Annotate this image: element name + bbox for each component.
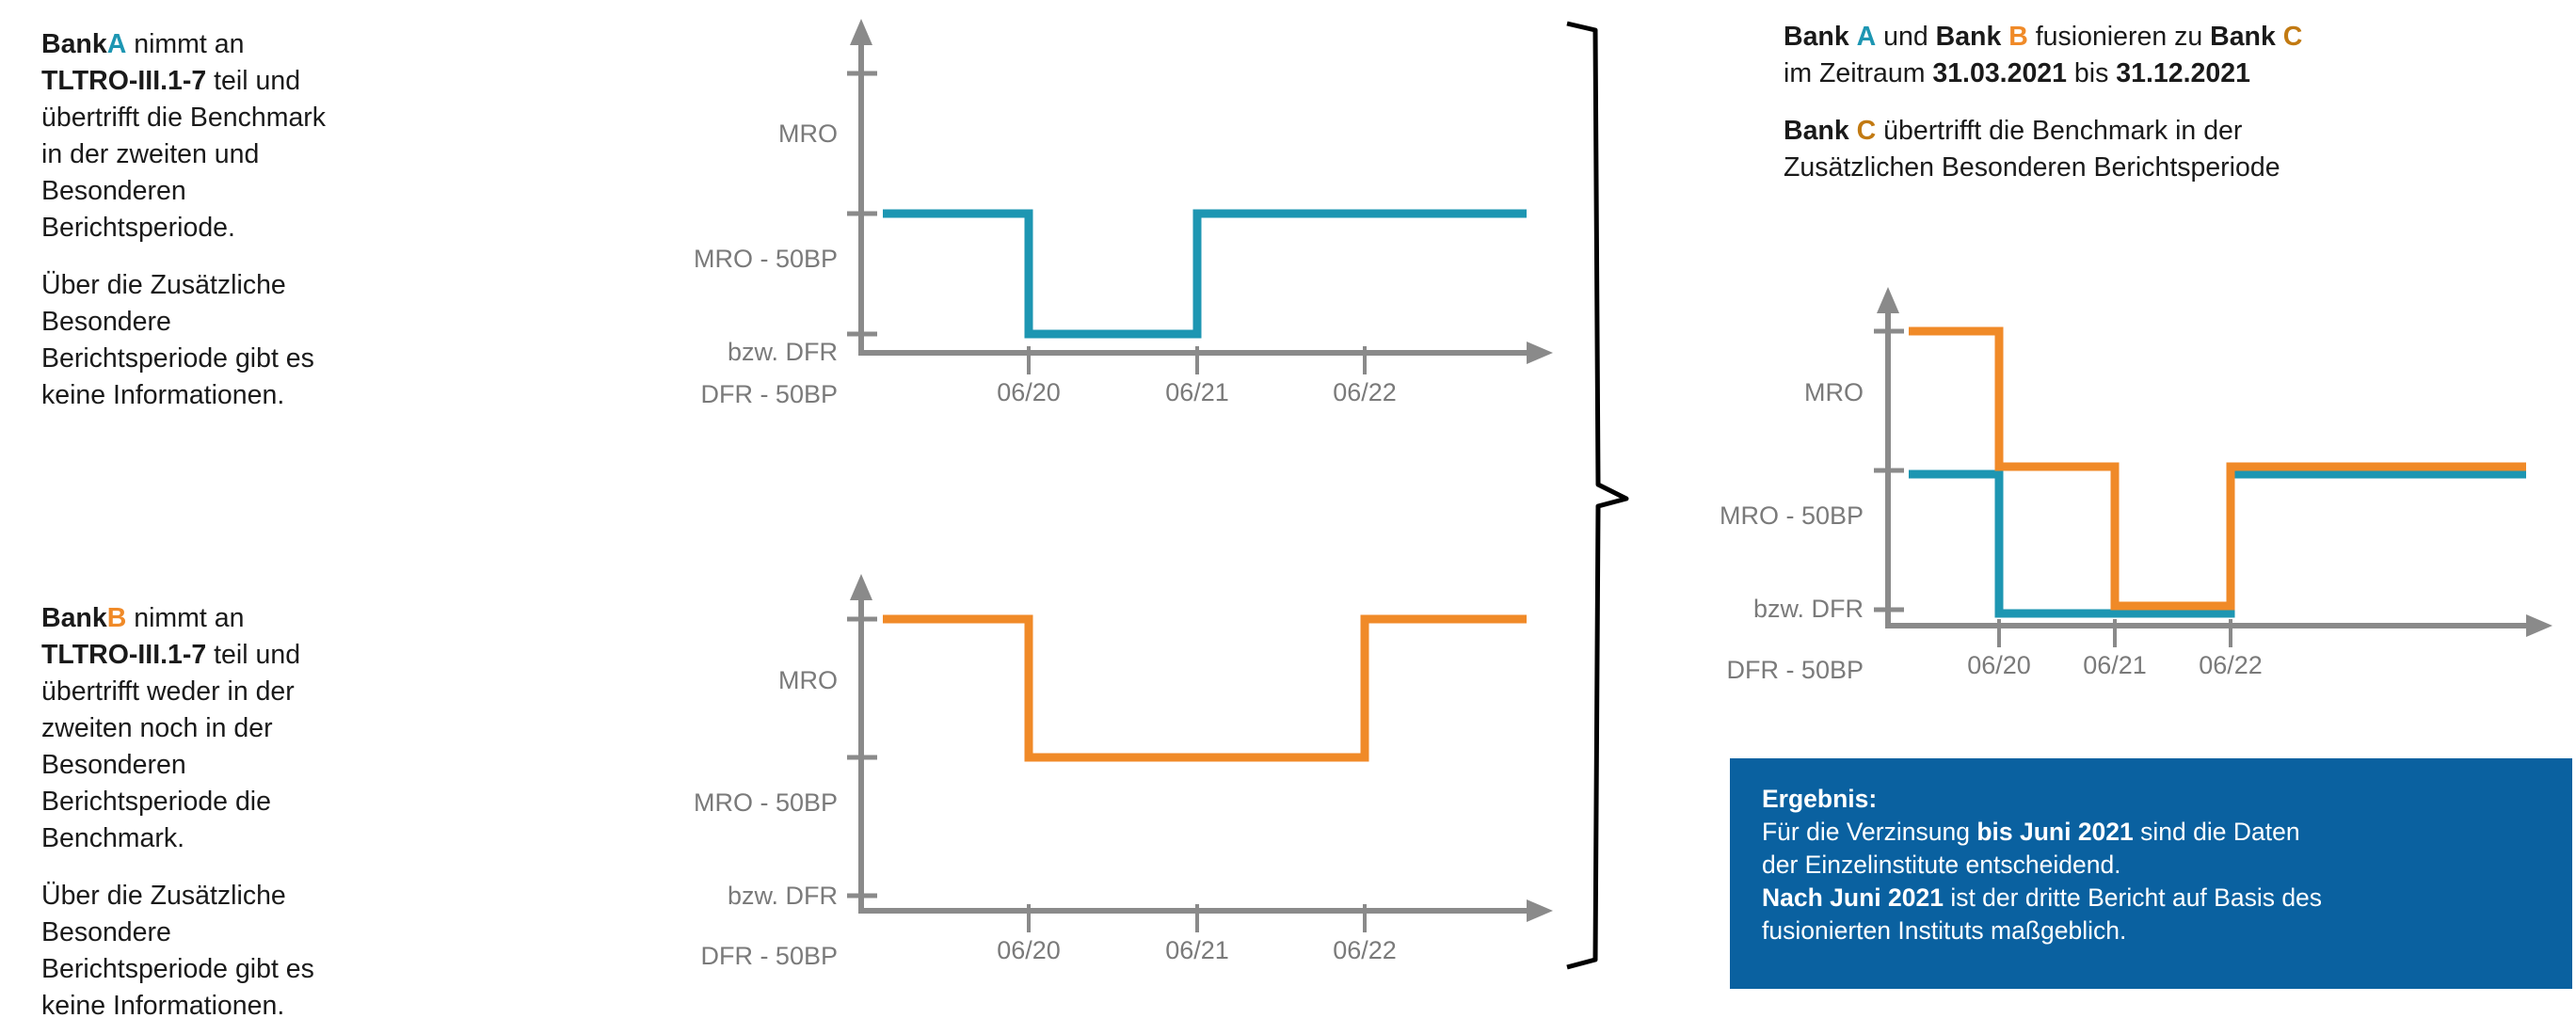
series-bank-b (883, 619, 1527, 757)
merger-letter-a: A (1857, 22, 1877, 52)
bank-a-paragraph-2: Über die Zusätzliche Besondere Berichtsp… (41, 267, 343, 414)
merger-date-from: 31.03.2021 (1932, 58, 2067, 88)
ylabel-dfr50-line1: DFR - 50BP (659, 941, 838, 972)
y-axis (850, 574, 872, 911)
ylabel-mro-line1: MRO (696, 665, 838, 696)
result-box: Ergebnis: Für die Verzinsung bis Juni 20… (1730, 758, 2572, 989)
bank-a-paragraph-1: BankA nimmt an TLTRO-III.1-7 teil und üb… (41, 26, 343, 247)
y-axis (850, 19, 872, 353)
bank-a-lead-bold: Bank (41, 29, 107, 59)
bank-b-description: BankB nimmt an TLTRO-III.1-7 teil und üb… (41, 600, 343, 1025)
ylabel-mro-line1: MRO (1722, 377, 1864, 408)
merger-bank-bold-1: Bank (1784, 22, 1849, 52)
merger-line-1: Bank A und Bank B fusionieren zu Bank C (1784, 19, 2527, 56)
xlabel-0621-chart-b: 06/21 (1136, 936, 1258, 965)
bank-b-lead-bold: Bank (41, 603, 107, 633)
chart-bank-b: MRO MRO - 50BP bzw. DFR DFR - 50BP 06/20… (809, 565, 1562, 969)
merge-brace (1553, 9, 1656, 978)
merger-zeitraum-pre: im Zeitraum (1784, 58, 1932, 88)
x-axis (858, 342, 1553, 364)
ylabel-dfr50-chart-c: DFR - 50BP (1680, 593, 1864, 748)
merger-description: Bank A und Bank B fusionieren zu Bank C … (1784, 19, 2527, 186)
bank-b-paragraph-2: Über die Zusätzliche Besondere Berichtsp… (41, 878, 343, 1025)
bank-b-mid-text: nimmt an (126, 603, 244, 633)
merger-paragraph-gap (1784, 92, 2527, 113)
result-line-3: Nach Juni 2021 ist der dritte Bericht au… (1762, 882, 2572, 915)
bank-a-letter: A (107, 29, 127, 59)
merger-paragraph-2: Bank C übertrifft die Benchmark in der Z… (1784, 113, 2367, 186)
result-line-3b: ist der dritte Bericht auf Basis des (1944, 883, 2322, 912)
bank-b-paragraph-gap (41, 857, 343, 878)
ylabel-dfr50-chart-a: DFR - 50BP (659, 317, 838, 472)
ylabel-mro50-line1: MRO - 50BP (659, 244, 838, 275)
bank-b-rest-text: teil und übertrifft weder in der zweiten… (41, 640, 300, 853)
merger-bank-bold-2: Bank (1936, 22, 2002, 52)
x-axis (1885, 614, 2552, 637)
result-line-1: Für die Verzinsung bis Juni 2021 sind di… (1762, 816, 2572, 849)
merger-bank-bold-3: Bank (2210, 22, 2276, 52)
ylabel-mro50-line1: MRO - 50BP (1680, 501, 1864, 532)
result-line-1b: bis Juni 2021 (1976, 818, 2133, 846)
xlabel-0620-chart-c: 06/20 (1938, 651, 2060, 680)
merger-letter-b: B (2008, 22, 2028, 52)
xlabel-0622-chart-c: 06/22 (2169, 651, 2292, 680)
result-line-1a: Für die Verzinsung (1762, 818, 1976, 846)
bank-b-paragraph-1: BankB nimmt an TLTRO-III.1-7 teil und üb… (41, 600, 343, 857)
series-bank-a (883, 214, 1527, 334)
result-line-3a: Nach Juni 2021 (1762, 883, 1944, 912)
merger-p2-bank-bold: Bank (1784, 116, 1849, 146)
merger-letter-c: C (2283, 22, 2303, 52)
x-axis (858, 899, 1553, 922)
xlabel-0620-chart-a: 06/20 (968, 378, 1090, 407)
merger-mid-2: fusionieren zu (2028, 22, 2210, 52)
merger-date-to: 31.12.2021 (2116, 58, 2250, 88)
ylabel-mro-line1: MRO (696, 119, 838, 150)
result-line-4: fusionierten Instituts maßgeblich. (1762, 915, 2572, 947)
xlabel-0621-chart-a: 06/21 (1136, 378, 1258, 407)
bank-b-letter: B (107, 603, 127, 633)
merger-date-mid: bis (2067, 58, 2116, 88)
y-axis (1877, 287, 1899, 626)
result-line-2: der Einzelinstitute entscheidend. (1762, 849, 2572, 882)
merger-mid-1: und (1876, 22, 1935, 52)
result-line-1c: sind die Daten (2134, 818, 2300, 846)
chart-bank-c: MRO MRO - 50BP bzw. DFR DFR - 50BP 06/20… (1835, 273, 2576, 677)
xlabel-0621-chart-c: 06/21 (2054, 651, 2176, 680)
bank-a-tltro-label: TLTRO-III.1-7 (41, 66, 206, 96)
xlabel-0622-chart-b: 06/22 (1304, 936, 1426, 965)
merger-p2-letter-c: C (1857, 116, 1877, 146)
bank-a-mid-text: nimmt an (126, 29, 244, 59)
xlabel-0622-chart-a: 06/22 (1304, 378, 1426, 407)
bank-a-paragraph-gap (41, 247, 343, 267)
ylabel-dfr50-line1: DFR - 50BP (1680, 655, 1864, 686)
ylabel-dfr50-chart-b: DFR - 50BP (659, 879, 838, 1034)
bank-b-tltro-label: TLTRO-III.1-7 (41, 640, 206, 670)
ylabel-dfr50-line1: DFR - 50BP (659, 379, 838, 410)
ylabel-mro50-line1: MRO - 50BP (659, 787, 838, 819)
merger-line-2: im Zeitraum 31.03.2021 bis 31.12.2021 (1784, 56, 2527, 92)
chart-bank-a: MRO MRO - 50BP bzw. DFR DFR - 50BP 06/20… (809, 9, 1562, 414)
bank-a-description: BankA nimmt an TLTRO-III.1-7 teil und üb… (41, 26, 343, 414)
result-heading: Ergebnis: (1762, 783, 2572, 816)
xlabel-0620-chart-b: 06/20 (968, 936, 1090, 965)
series-bank-a-merged (1909, 474, 2526, 613)
